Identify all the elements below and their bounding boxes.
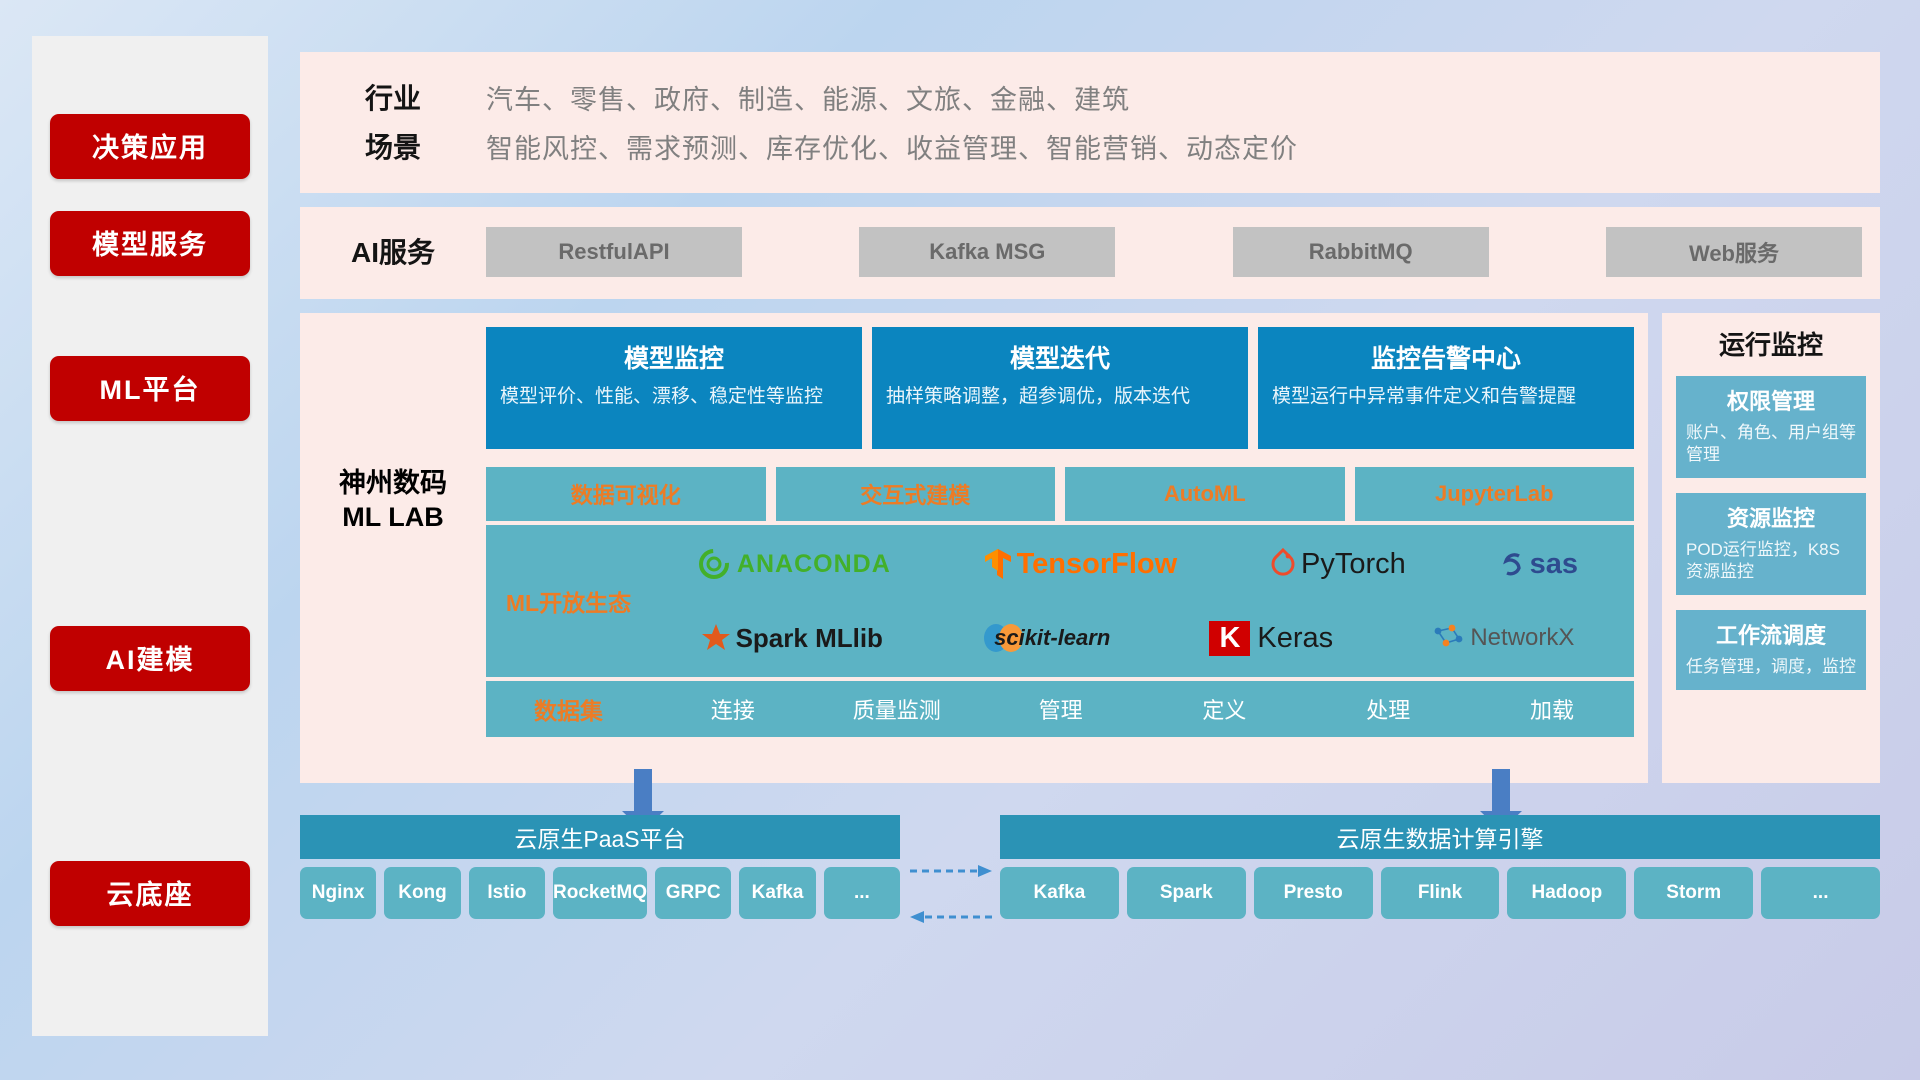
rail-item-ai-modeling[interactable]: AI建模 bbox=[50, 626, 250, 691]
ml-ecosystem-logo-row-1: ANACONDA TensorFlow PyTorch bbox=[651, 528, 1624, 600]
rail-slot: 模型服务 bbox=[50, 211, 250, 276]
rail-item-ml-platform[interactable]: ML平台 bbox=[50, 356, 250, 421]
dataset-row: 数据集 连接 质量监测 管理 定义 处理 加载 bbox=[486, 681, 1634, 737]
anaconda-logo: ANACONDA bbox=[697, 547, 891, 581]
rail-slot: AI建模 bbox=[50, 626, 250, 691]
anaconda-logo-text: ANACONDA bbox=[737, 550, 891, 579]
cloud-foundation-band: 云原生PaaS平台 Nginx Kong Istio RocketMQ GRPC… bbox=[300, 767, 1880, 947]
mlops-card-title: 模型监控 bbox=[500, 339, 848, 375]
rail-item-decision[interactable]: 决策应用 bbox=[50, 114, 250, 179]
mlops-card-alert-center[interactable]: 监控告警中心 模型运行中异常事件定义和告警提醒 bbox=[1258, 327, 1634, 449]
scikit-learn-logo-text: scikit-learn bbox=[994, 625, 1110, 651]
scikit-learn-logo: scikit-learn bbox=[982, 621, 1110, 655]
compute-chip-spark[interactable]: Spark bbox=[1127, 867, 1246, 919]
dataset-label: 数据集 bbox=[486, 692, 651, 726]
decision-application-band: 行业 汽车、零售、政府、制造、能源、文旅、金融、建筑 场景 智能风控、需求预测、… bbox=[300, 52, 1880, 193]
mlops-card-desc: 模型运行中异常事件定义和告警提醒 bbox=[1272, 384, 1620, 410]
compute-chip-kafka[interactable]: Kafka bbox=[1000, 867, 1119, 919]
compute-engine-group: 云原生数据计算引擎 Kafka Spark Presto Flink Hadoo… bbox=[1000, 815, 1880, 919]
pytorch-logo: PyTorch bbox=[1269, 548, 1406, 581]
sas-logo: sas bbox=[1498, 548, 1578, 581]
keras-logo-mark: K bbox=[1209, 621, 1250, 656]
paas-title: 云原生PaaS平台 bbox=[300, 815, 900, 859]
paas-chip-kafka[interactable]: Kafka bbox=[739, 867, 815, 919]
compute-chip-storm[interactable]: Storm bbox=[1634, 867, 1753, 919]
paas-chip-nginx[interactable]: Nginx bbox=[300, 867, 376, 919]
paas-chip-more[interactable]: ... bbox=[824, 867, 900, 919]
compute-chip-flink[interactable]: Flink bbox=[1381, 867, 1500, 919]
rail-slot: 云底座 bbox=[50, 861, 250, 926]
spark-mllib-logo: Spark MLlib bbox=[701, 623, 883, 654]
sas-logo-text: sas bbox=[1530, 548, 1578, 581]
paas-chip-list: Nginx Kong Istio RocketMQ GRPC Kafka ... bbox=[300, 867, 900, 919]
mlops-card-desc: 抽样策略调整，超参调优，版本迭代 bbox=[886, 384, 1234, 410]
mlops-card-title: 模型迭代 bbox=[886, 339, 1234, 375]
paas-chip-istio[interactable]: Istio bbox=[469, 867, 545, 919]
paas-group: 云原生PaaS平台 Nginx Kong Istio RocketMQ GRPC… bbox=[300, 815, 900, 919]
dataset-item-define[interactable]: 定义 bbox=[1142, 693, 1306, 725]
ai-service-chip-restfulapi[interactable]: RestfulAPI bbox=[486, 227, 742, 277]
ml-lab-label: 神州数码 ML LAB bbox=[300, 467, 486, 737]
compute-engine-title: 云原生数据计算引擎 bbox=[1000, 815, 1880, 859]
paas-chip-kong[interactable]: Kong bbox=[384, 867, 460, 919]
ml-tool-interactive-modeling[interactable]: 交互式建模 bbox=[776, 467, 1056, 521]
ai-service-chip-rabbitmq[interactable]: RabbitMQ bbox=[1233, 227, 1489, 277]
ai-service-chip-list: RestfulAPI Kafka MSG RabbitMQ Web服务 bbox=[486, 227, 1880, 277]
ml-tool-jupyterlab[interactable]: JupyterLab bbox=[1355, 467, 1635, 521]
dataset-item-manage[interactable]: 管理 bbox=[979, 693, 1143, 725]
mlops-card-model-monitoring[interactable]: 模型监控 模型评价、性能、漂移、稳定性等监控 bbox=[486, 327, 862, 449]
dataset-item-list: 连接 质量监测 管理 定义 处理 加载 bbox=[651, 693, 1634, 725]
compute-chip-hadoop[interactable]: Hadoop bbox=[1507, 867, 1626, 919]
mlops-card-desc: 模型评价、性能、漂移、稳定性等监控 bbox=[500, 384, 848, 410]
ml-tool-row: 数据可视化 交互式建模 AutoML JupyterLab bbox=[486, 467, 1634, 521]
rail-slot: 决策应用 bbox=[50, 114, 250, 179]
ml-lab-section: 神州数码 ML LAB 数据可视化 交互式建模 AutoML JupyterLa… bbox=[300, 455, 1648, 751]
scenario-values: 智能风控、需求预测、库存优化、收益管理、智能营销、动态定价 bbox=[486, 127, 1298, 166]
ai-service-label: AI服务 bbox=[300, 235, 486, 270]
ml-ecosystem-label: ML开放生态 bbox=[486, 584, 651, 618]
networkx-logo: NetworkX bbox=[1432, 623, 1574, 653]
paas-chip-grpc[interactable]: GRPC bbox=[655, 867, 731, 919]
ml-lab-label-line2: ML LAB bbox=[300, 501, 486, 535]
keras-logo: K Keras bbox=[1209, 621, 1333, 656]
tensorflow-logo-text: TensorFlow bbox=[1017, 548, 1178, 581]
scenario-row: 场景 智能风控、需求预测、库存优化、收益管理、智能营销、动态定价 bbox=[300, 126, 1880, 166]
mlops-card-list: 模型监控 模型评价、性能、漂移、稳定性等监控 模型迭代 抽样策略调整，超参调优，… bbox=[486, 327, 1634, 449]
ml-ecosystem-logo-row-2: Spark MLlib scikit-learn K Keras bbox=[651, 602, 1624, 674]
industry-label: 行业 bbox=[300, 77, 486, 117]
dataset-item-quality[interactable]: 质量监测 bbox=[815, 693, 979, 725]
stage-rail: 决策应用 模型服务 ML平台 AI建模 云底座 bbox=[32, 36, 268, 1036]
dataset-item-connect[interactable]: 连接 bbox=[651, 693, 815, 725]
compute-chip-presto[interactable]: Presto bbox=[1254, 867, 1373, 919]
networkx-logo-text: NetworkX bbox=[1470, 624, 1574, 652]
rail-slot: ML平台 bbox=[50, 356, 250, 421]
architecture-main: 行业 汽车、零售、政府、制造、能源、文旅、金融、建筑 场景 智能风控、需求预测、… bbox=[300, 52, 1880, 947]
paas-chip-rocketmq[interactable]: RocketMQ bbox=[553, 867, 647, 919]
dataset-item-process[interactable]: 处理 bbox=[1306, 693, 1470, 725]
ml-lab-label-line1: 神州数码 bbox=[300, 467, 486, 501]
ai-service-band: AI服务 RestfulAPI Kafka MSG RabbitMQ Web服务 bbox=[300, 207, 1880, 299]
monitoring-card-title: 权限管理 bbox=[1686, 384, 1856, 416]
ai-service-chip-kafka-msg[interactable]: Kafka MSG bbox=[859, 227, 1115, 277]
ml-ecosystem-row: ML开放生态 ANACONDA TensorFlow bbox=[486, 525, 1634, 677]
ml-lab-body: 数据可视化 交互式建模 AutoML JupyterLab ML开放生态 ANA… bbox=[486, 467, 1634, 737]
compute-chip-more[interactable]: ... bbox=[1761, 867, 1880, 919]
ml-tool-data-visualization[interactable]: 数据可视化 bbox=[486, 467, 766, 521]
mlops-card-title: 监控告警中心 bbox=[1272, 339, 1620, 375]
industry-values: 汽车、零售、政府、制造、能源、文旅、金融、建筑 bbox=[486, 78, 1130, 117]
ml-ecosystem-logos: ANACONDA TensorFlow PyTorch bbox=[651, 528, 1634, 674]
runtime-monitoring-title: 运行监控 bbox=[1676, 325, 1866, 362]
industry-row: 行业 汽车、零售、政府、制造、能源、文旅、金融、建筑 bbox=[300, 77, 1880, 117]
pytorch-logo-text: PyTorch bbox=[1301, 548, 1406, 581]
dataset-item-load[interactable]: 加载 bbox=[1470, 693, 1634, 725]
rail-item-cloud-base[interactable]: 云底座 bbox=[50, 861, 250, 926]
ai-service-chip-web[interactable]: Web服务 bbox=[1606, 227, 1862, 277]
rail-item-model-service[interactable]: 模型服务 bbox=[50, 211, 250, 276]
mlops-card-model-iteration[interactable]: 模型迭代 抽样策略调整，超参调优，版本迭代 bbox=[872, 327, 1248, 449]
ai-modeling-band: 神州数码 ML LAB 数据可视化 交互式建模 AutoML JupyterLa… bbox=[300, 455, 1880, 751]
ml-tool-automl[interactable]: AutoML bbox=[1065, 467, 1345, 521]
scenario-label: 场景 bbox=[300, 126, 486, 166]
spark-mllib-logo-text: Spark MLlib bbox=[736, 623, 883, 654]
tensorflow-logo: TensorFlow bbox=[983, 547, 1178, 581]
compute-chip-list: Kafka Spark Presto Flink Hadoop Storm ..… bbox=[1000, 867, 1880, 919]
keras-logo-text: Keras bbox=[1257, 622, 1333, 655]
